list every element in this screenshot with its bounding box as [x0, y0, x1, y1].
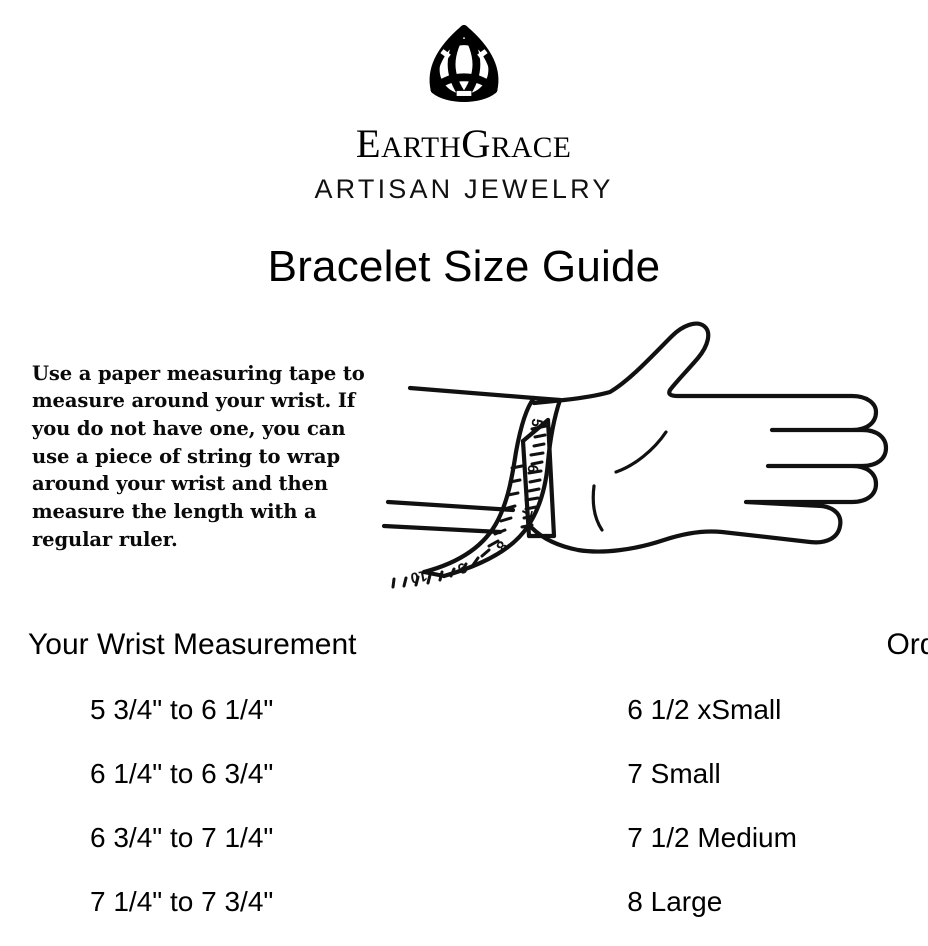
wrist-measurement-value: 6 3/4" to 7 1/4" [0, 824, 627, 852]
brand-header: EARTHGRACE ARTISAN JEWELRY [0, 18, 928, 203]
table-header-row: Your Wrist Measurement Order This Size B… [0, 630, 928, 660]
tape-label-9: 9 [454, 559, 469, 578]
column-header-wrist-measurement: Your Wrist Measurement [0, 630, 356, 660]
wrist-measurement-value: 5 3/4" to 6 1/4" [0, 696, 627, 724]
wrist-measurement-value: 6 1/4" to 6 3/4" [0, 760, 627, 788]
brand-wordmark-text: EARTHGRACE [356, 121, 571, 166]
brand-tagline: ARTISAN JEWELRY [0, 176, 928, 203]
tape-label-10: 10 [409, 567, 428, 587]
bracelet-size-value: 7 1/2 Medium [627, 824, 928, 852]
measuring-instructions: Use a paper measuring tape to measure ar… [32, 360, 377, 554]
table-row: 5 3/4" to 6 1/4" 6 1/2 xSmall [0, 696, 928, 724]
table-row: 6 3/4" to 7 1/4" 7 1/2 Medium [0, 824, 928, 852]
column-header-order-size: Order This Size Bracelet [356, 630, 928, 660]
table-row: 6 1/4" to 6 3/4" 7 Small [0, 760, 928, 788]
bracelet-size-table: Your Wrist Measurement Order This Size B… [0, 630, 928, 916]
triquetra-celtic-knot-icon [408, 18, 520, 110]
bracelet-size-value: 7 Small [627, 760, 928, 788]
table-row: 7 1/4" to 7 3/4" 8 Large [0, 888, 928, 916]
bracelet-size-value: 8 Large [627, 888, 928, 916]
wrist-measurement-value: 7 1/4" to 7 3/4" [0, 888, 627, 916]
hand-with-measuring-tape-illustration: 5 6 7 8 9 10 [382, 300, 922, 600]
brand-wordmark: EARTHGRACE [298, 120, 629, 166]
page-title: Bracelet Size Guide [0, 244, 928, 290]
tape-label-5: 5 [527, 417, 545, 428]
bracelet-size-value: 6 1/2 xSmall [627, 696, 928, 724]
